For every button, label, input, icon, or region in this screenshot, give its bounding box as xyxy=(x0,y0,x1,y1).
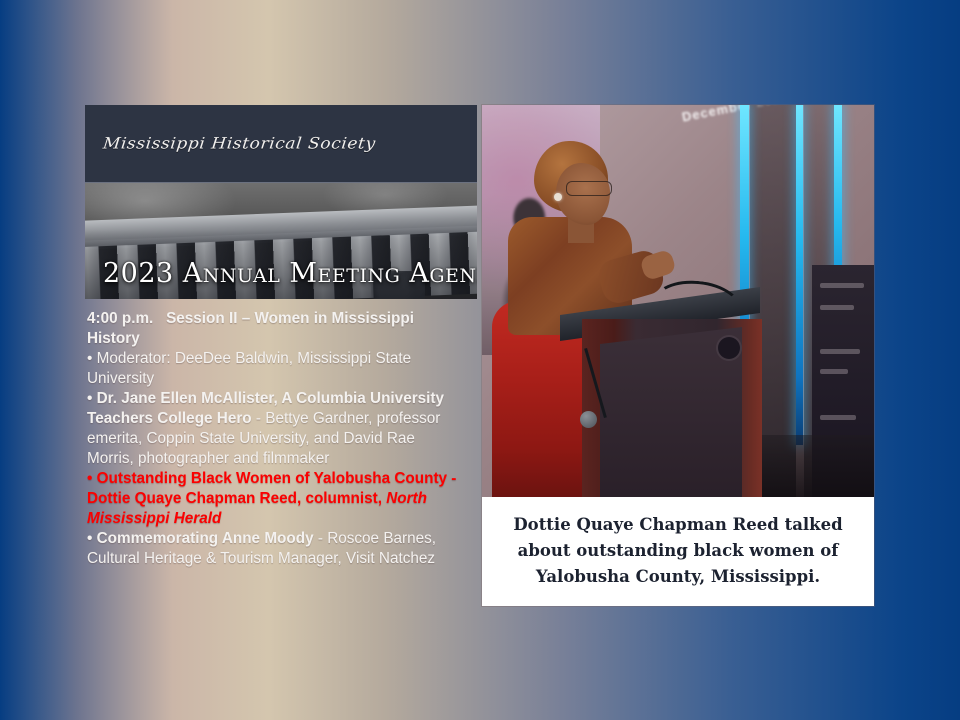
mississippi-historical-society-logo: Mississippi Historical Society xyxy=(102,134,377,152)
blue-led-light-2 xyxy=(796,105,803,445)
signage-line xyxy=(820,415,856,420)
photo-caption-panel: December 2023 xyxy=(482,105,874,606)
banner-title: 2023 Annual Meeting Agenda xyxy=(103,258,477,289)
agenda-text-block: 4:00 p.m. Session II – Women in Mississi… xyxy=(85,299,461,569)
agenda-session-heading: 4:00 p.m. Session II – Women in Mississi… xyxy=(87,309,459,349)
signage-line xyxy=(820,305,854,310)
agenda-bullet-anne-moody: • Commemorating Anne Moody - Roscoe Barn… xyxy=(87,529,459,569)
signage-line xyxy=(820,349,860,354)
agenda-bullet-moderator: • Moderator: DeeDee Baldwin, Mississippi… xyxy=(87,349,459,389)
session-time: 4:00 p.m. xyxy=(87,310,153,327)
speaker-at-podium-photo: December 2023 xyxy=(482,105,874,497)
speaker-eyeglasses xyxy=(566,181,612,196)
photo-caption: Dottie Quaye Chapman Reed talked about o… xyxy=(482,497,874,606)
agenda-bullet-yalobusha: • Outstanding Black Women of Yalobusha C… xyxy=(87,469,459,529)
bullet-anne-moody-title: • Commemorating Anne Moody xyxy=(87,530,314,547)
agenda-slide-panel: Mississippi Historical Society 2023 Annu… xyxy=(85,105,477,569)
microphone-head xyxy=(580,411,597,428)
speaker-earring xyxy=(554,193,562,201)
agenda-bullet-mcallister: • Dr. Jane Ellen McAllister, A Columbia … xyxy=(87,389,459,469)
signage-line xyxy=(820,369,848,374)
bullet-moderator-text: • Moderator: DeeDee Baldwin, Mississippi… xyxy=(87,350,411,387)
slide-stage: Mississippi Historical Society 2023 Annu… xyxy=(0,0,960,720)
signage-line xyxy=(820,283,864,288)
podium-emblem xyxy=(718,337,740,359)
society-header-bar: Mississippi Historical Society xyxy=(85,105,477,183)
meeting-banner: 2023 Annual Meeting Agenda xyxy=(85,183,477,299)
